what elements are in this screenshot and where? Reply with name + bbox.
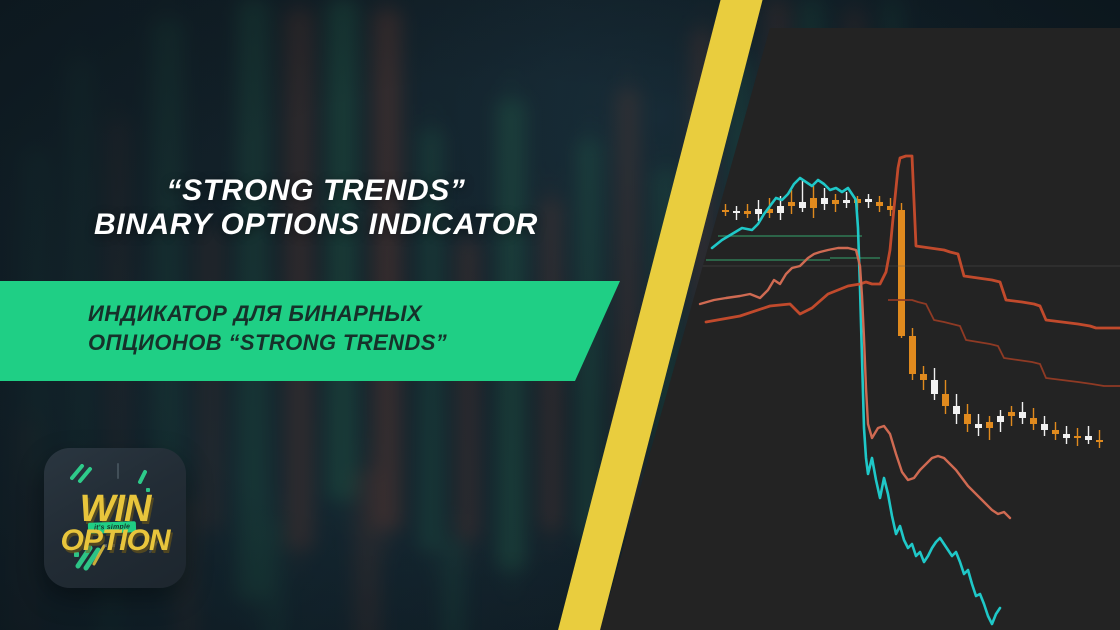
logo-word-option: OPTION <box>44 524 186 558</box>
promo-poster: “STRONG TRENDS” BINARY OPTIONS INDICATOR… <box>0 0 1120 630</box>
subtitle-banner: ИНДИКАТОР ДЛЯ БИНАРНЫХ ОПЦИОНОВ “STRONG … <box>0 281 625 381</box>
subtitle-banner-text: ИНДИКАТОР ДЛЯ БИНАРНЫХ ОПЦИОНОВ “STRONG … <box>88 300 608 357</box>
brand-logo[interactable]: WIN it's simple OPTION <box>44 448 186 588</box>
headline-line-2: BINARY OPTIONS INDICATOR <box>0 208 632 242</box>
subtitle-line-2: ОПЦИОНОВ “STRONG TRENDS” <box>88 329 608 358</box>
headline-line-1: “STRONG TRENDS” <box>0 174 632 208</box>
page-title: “STRONG TRENDS” BINARY OPTIONS INDICATOR <box>0 174 632 242</box>
subtitle-line-1: ИНДИКАТОР ДЛЯ БИНАРНЫХ <box>88 300 608 329</box>
